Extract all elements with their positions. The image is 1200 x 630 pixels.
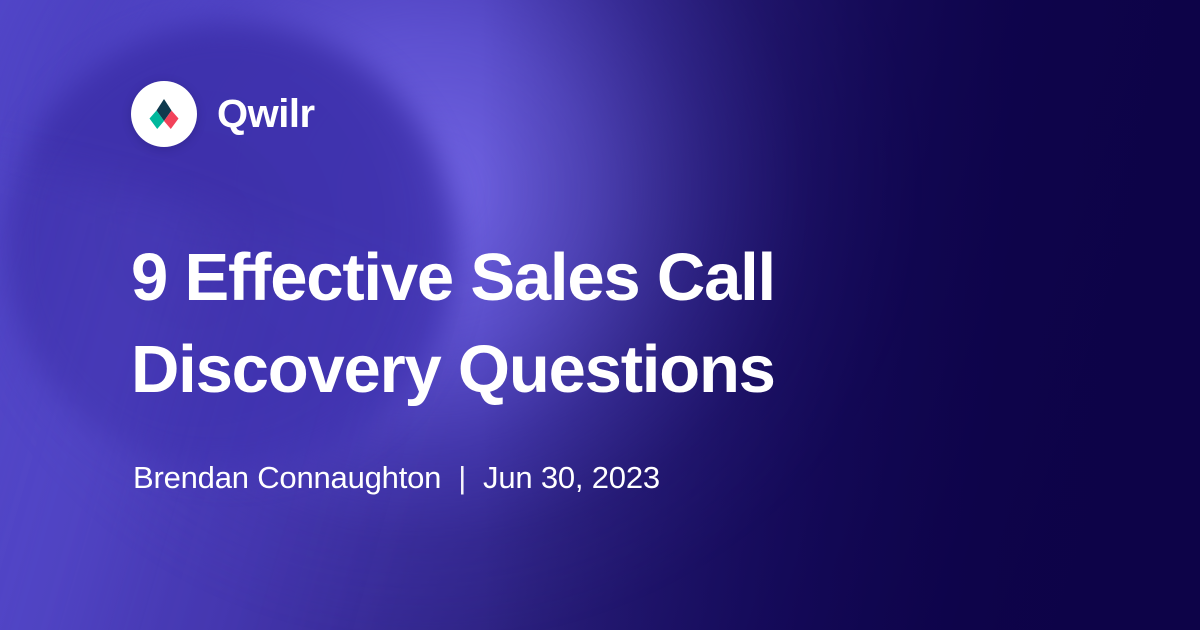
qwilr-logo-mark-icon [144,94,184,134]
publish-date: Jun 30, 2023 [483,458,660,498]
page-title-line-2: Discovery Questions [131,324,961,416]
brand-lockup[interactable]: Qwilr [131,81,315,147]
qwilr-logo-badge [131,81,197,147]
card-content: Qwilr 9 Effective Sales Call Discovery Q… [0,0,1200,630]
page-title-line-1: 9 Effective Sales Call [131,232,961,324]
byline: Brendan Connaughton | Jun 30, 2023 [133,458,660,498]
author-name: Brendan Connaughton [133,458,441,498]
brand-wordmark: Qwilr [217,94,315,134]
byline-separator: | [441,458,483,498]
page-title: 9 Effective Sales Call Discovery Questio… [131,232,961,417]
social-share-card: Qwilr 9 Effective Sales Call Discovery Q… [0,0,1200,630]
